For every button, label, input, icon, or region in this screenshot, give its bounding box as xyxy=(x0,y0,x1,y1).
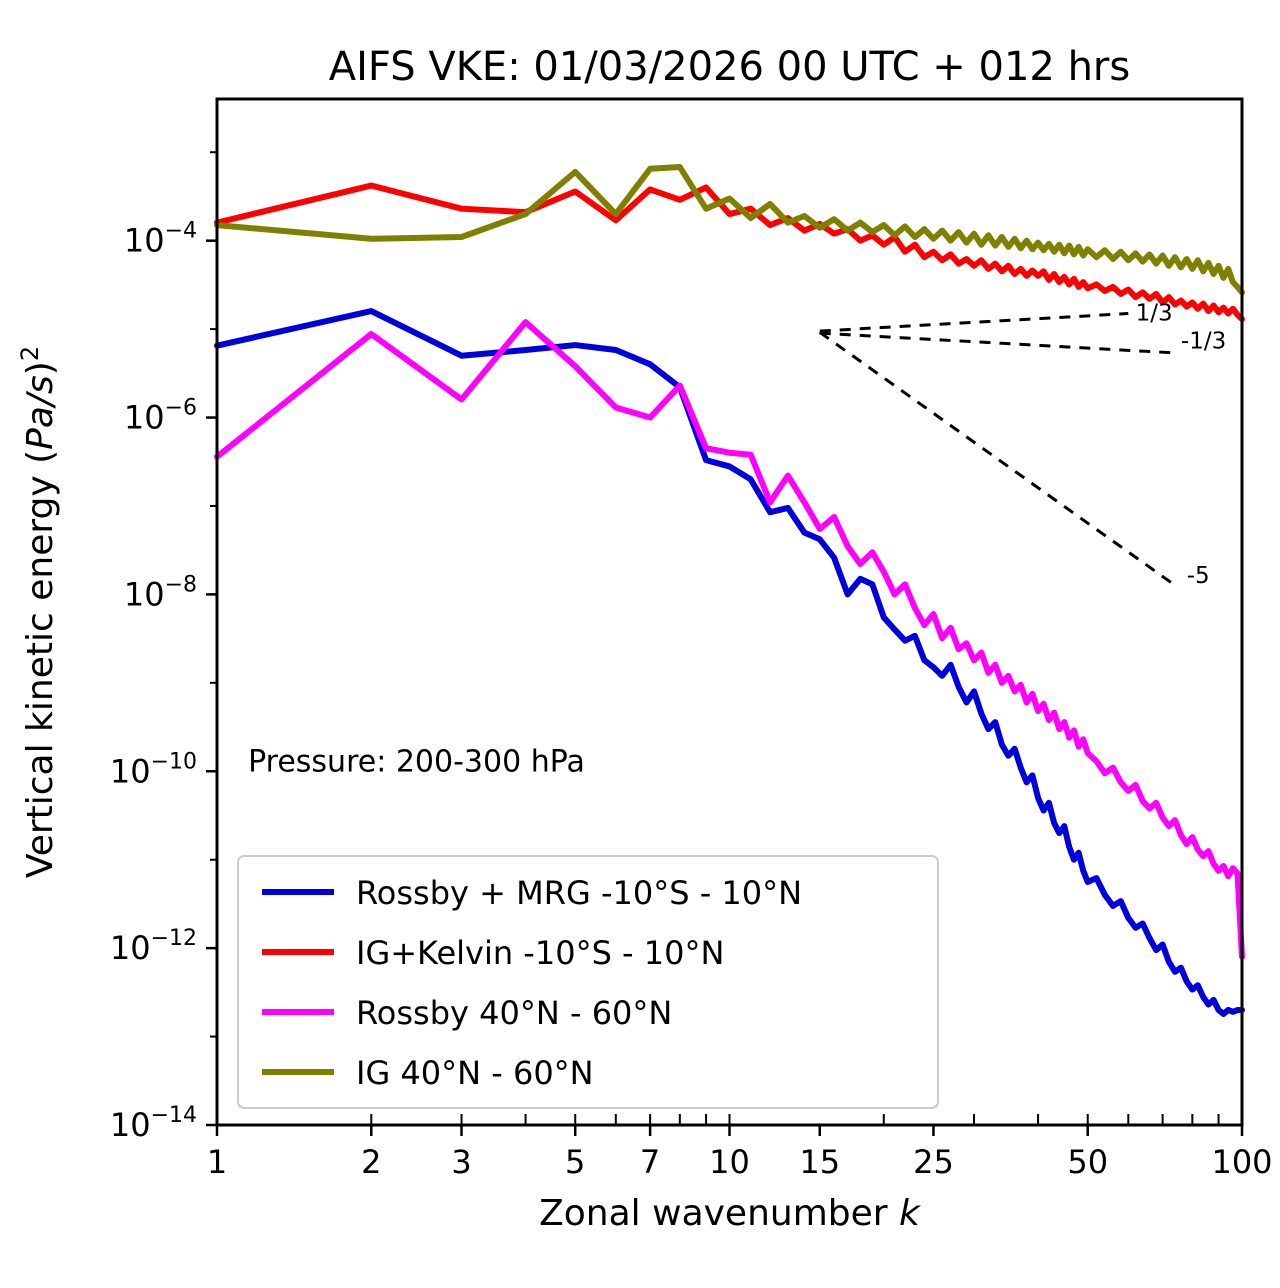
x-axis-ticks: 1235710152550100 xyxy=(207,1125,1273,1181)
slope-label-minus-five: -5 xyxy=(1187,563,1210,589)
y-axis-label: Vertical kinetic energy (Pa/s)2 xyxy=(16,346,61,878)
legend: Rossby + MRG -10°S - 10°NIG+Kelvin -10°S… xyxy=(238,856,938,1108)
x-axis-label: Zonal wavenumber k xyxy=(539,1193,922,1234)
y-axis-ticks: 10−410−610−810−1010−1210−14 xyxy=(110,219,217,1144)
y-tick-label: 10−12 xyxy=(110,926,197,967)
x-tick-label: 2 xyxy=(361,1143,381,1181)
legend-label-1: IG+Kelvin -10°S - 10°N xyxy=(356,934,724,972)
x-tick-label: 15 xyxy=(799,1143,840,1181)
y-tick-label: 10−8 xyxy=(124,572,197,613)
vke-spectrum-chart: AIFS VKE: 01/03/2026 00 UTC + 012 hrs123… xyxy=(0,0,1280,1288)
chart-figure: AIFS VKE: 01/03/2026 00 UTC + 012 hrs123… xyxy=(0,0,1280,1288)
slope-label-plus-one-third: 1/3 xyxy=(1136,301,1173,327)
x-tick-label: 5 xyxy=(565,1143,585,1181)
legend-label-2: Rossby 40°N - 60°N xyxy=(356,994,672,1032)
slope-label-minus-one-third: -1/3 xyxy=(1181,329,1226,355)
x-tick-label: 100 xyxy=(1211,1143,1272,1181)
chart-title: AIFS VKE: 01/03/2026 00 UTC + 012 hrs xyxy=(329,44,1130,90)
y-tick-label: 10−4 xyxy=(124,219,197,260)
y-tick-label: 10−10 xyxy=(110,749,197,790)
x-tick-label: 25 xyxy=(913,1143,954,1181)
y-tick-label: 10−6 xyxy=(124,396,197,437)
pressure-annotation: Pressure: 200-300 hPa xyxy=(248,744,585,779)
x-tick-label: 7 xyxy=(640,1143,660,1181)
x-tick-label: 1 xyxy=(207,1143,227,1181)
x-tick-label: 10 xyxy=(709,1143,750,1181)
legend-label-3: IG 40°N - 60°N xyxy=(356,1054,594,1092)
x-tick-label: 3 xyxy=(451,1143,471,1181)
x-tick-label: 50 xyxy=(1067,1143,1108,1181)
x-axis-minor-ticks xyxy=(217,1114,1242,1125)
legend-label-0: Rossby + MRG -10°S - 10°N xyxy=(356,874,802,912)
y-tick-label: 10−14 xyxy=(110,1103,197,1144)
